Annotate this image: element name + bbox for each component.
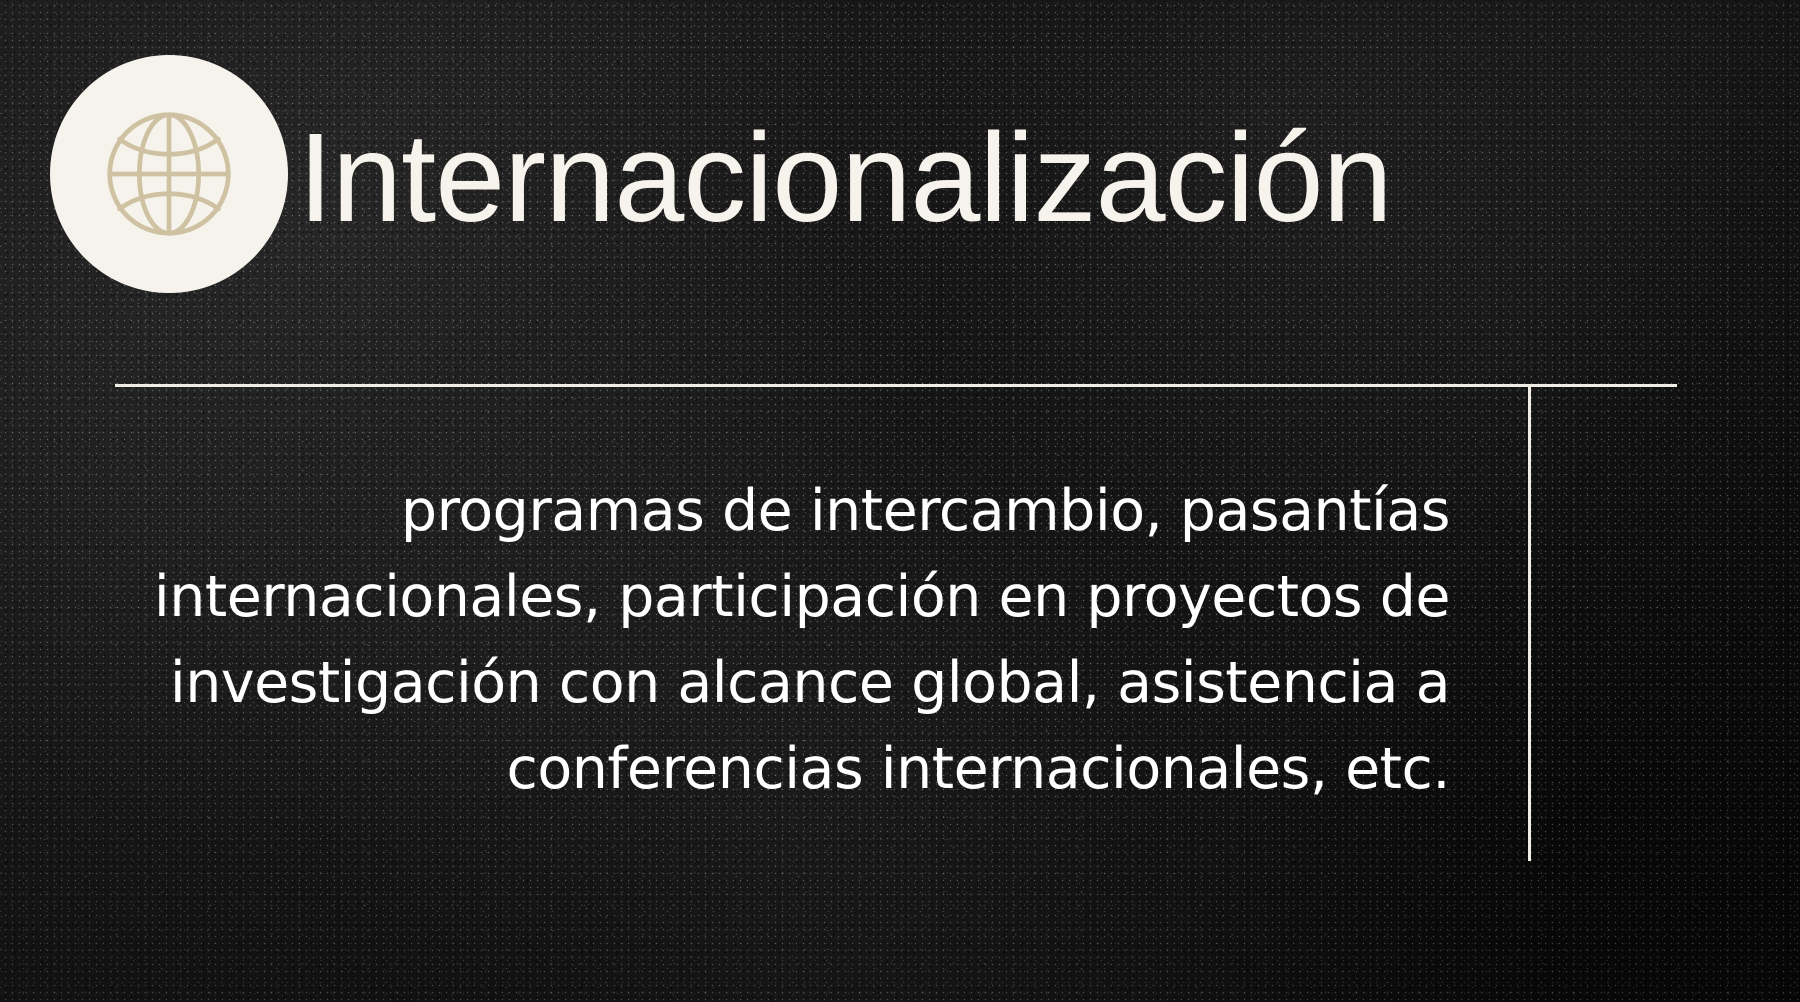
body-line: conferencias internacionales, etc. <box>60 726 1450 812</box>
body-text: programas de intercambio, pasantías inte… <box>60 468 1450 812</box>
vertical-rule <box>1528 387 1531 861</box>
body-line: investigación con alcance global, asiste… <box>60 640 1450 726</box>
globe-icon <box>93 98 245 250</box>
page-title: Internacionalización <box>298 115 1392 241</box>
body-line: internacionales, participación en proyec… <box>60 554 1450 640</box>
body-line: programas de intercambio, pasantías <box>60 468 1450 554</box>
slide-header: Internacionalización <box>50 55 1392 293</box>
globe-icon-badge <box>50 55 288 293</box>
slide-canvas: Internacionalización programas de interc… <box>0 0 1800 1002</box>
horizontal-rule <box>115 384 1677 387</box>
